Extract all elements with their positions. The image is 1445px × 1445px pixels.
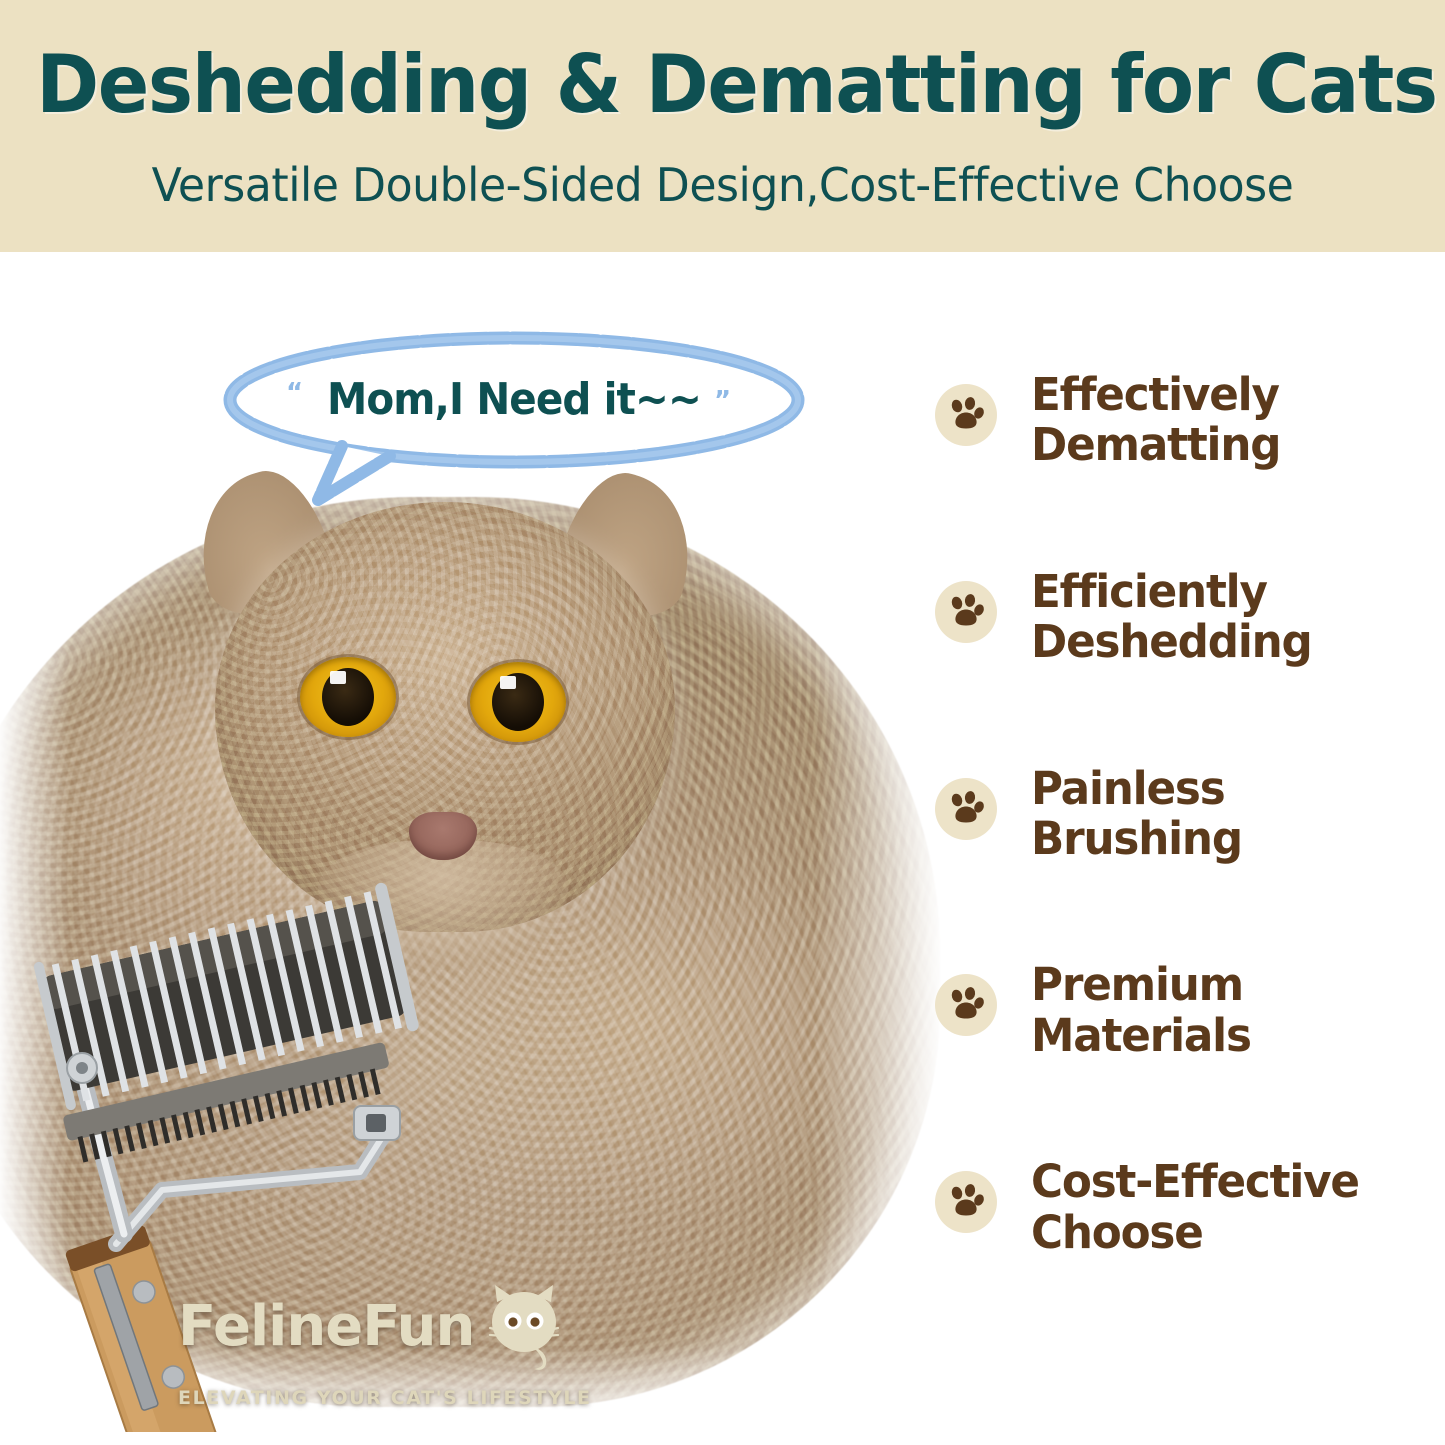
feature-label-line2: Choose [1031,1206,1203,1259]
brand-name: FelineFun [178,1299,474,1355]
feature-label-line1: Premium [1031,958,1243,1011]
feature-label-line1: Painless [1031,762,1225,815]
speech-bubble: “ Mom,I Need it~~ ” [214,328,814,508]
paw-icon [935,778,997,840]
header-band: Deshedding & Dematting for Cats Versatil… [0,0,1445,252]
feature-label-line1: Effectively [1031,368,1279,421]
page-title: Deshedding & Dematting for Cats [36,38,1409,131]
brand-tagline: ELEVATING YOUR CAT'S LIFESTYLE [178,1387,598,1409]
eye-glint-right [500,676,516,689]
quote-close-icon: ” [714,386,731,416]
feature-label-line2: Dematting [1031,418,1280,471]
cat-eye-left [300,657,396,737]
feature-label-line2: Materials [1031,1009,1251,1062]
feature-label-line2: Deshedding [1031,615,1312,668]
feature-label: Effectively Dematting [1031,370,1280,471]
product-infographic: Deshedding & Dematting for Cats Versatil… [0,0,1445,1445]
paw-icon [935,1171,997,1233]
feature-label-line2: Brushing [1031,812,1242,865]
feature-label-line1: Cost-Effective [1031,1155,1359,1208]
speech-bubble-text: Mom,I Need it~~ [238,374,790,425]
cat-head-icon [480,1278,568,1375]
feature-list: Effectively Dematting Efficiently Deshed… [935,370,1435,1258]
feature-label: Efficiently Deshedding [1031,567,1312,668]
paw-icon [935,581,997,643]
paw-icon [935,384,997,446]
feature-item-premium-materials[interactable]: Premium Materials [935,960,1435,1061]
page-subtitle: Versatile Double-Sided Design,Cost-Effec… [29,158,1416,212]
feature-label: Painless Brushing [1031,764,1242,865]
eye-glint-left [330,671,346,684]
feature-label-line1: Efficiently [1031,565,1267,618]
feature-item-efficiently-deshedding[interactable]: Efficiently Deshedding [935,567,1435,668]
cat-eye-right [470,662,566,742]
paw-icon [935,974,997,1036]
brand-lockup: FelineFun [178,1278,598,1409]
feature-label: Cost-Effective Choose [1031,1157,1359,1258]
feature-item-cost-effective-choose[interactable]: Cost-Effective Choose [935,1157,1435,1258]
feature-item-effectively-dematting[interactable]: Effectively Dematting [935,370,1435,471]
feature-item-painless-brushing[interactable]: Painless Brushing [935,764,1435,865]
feature-label: Premium Materials [1031,960,1251,1061]
